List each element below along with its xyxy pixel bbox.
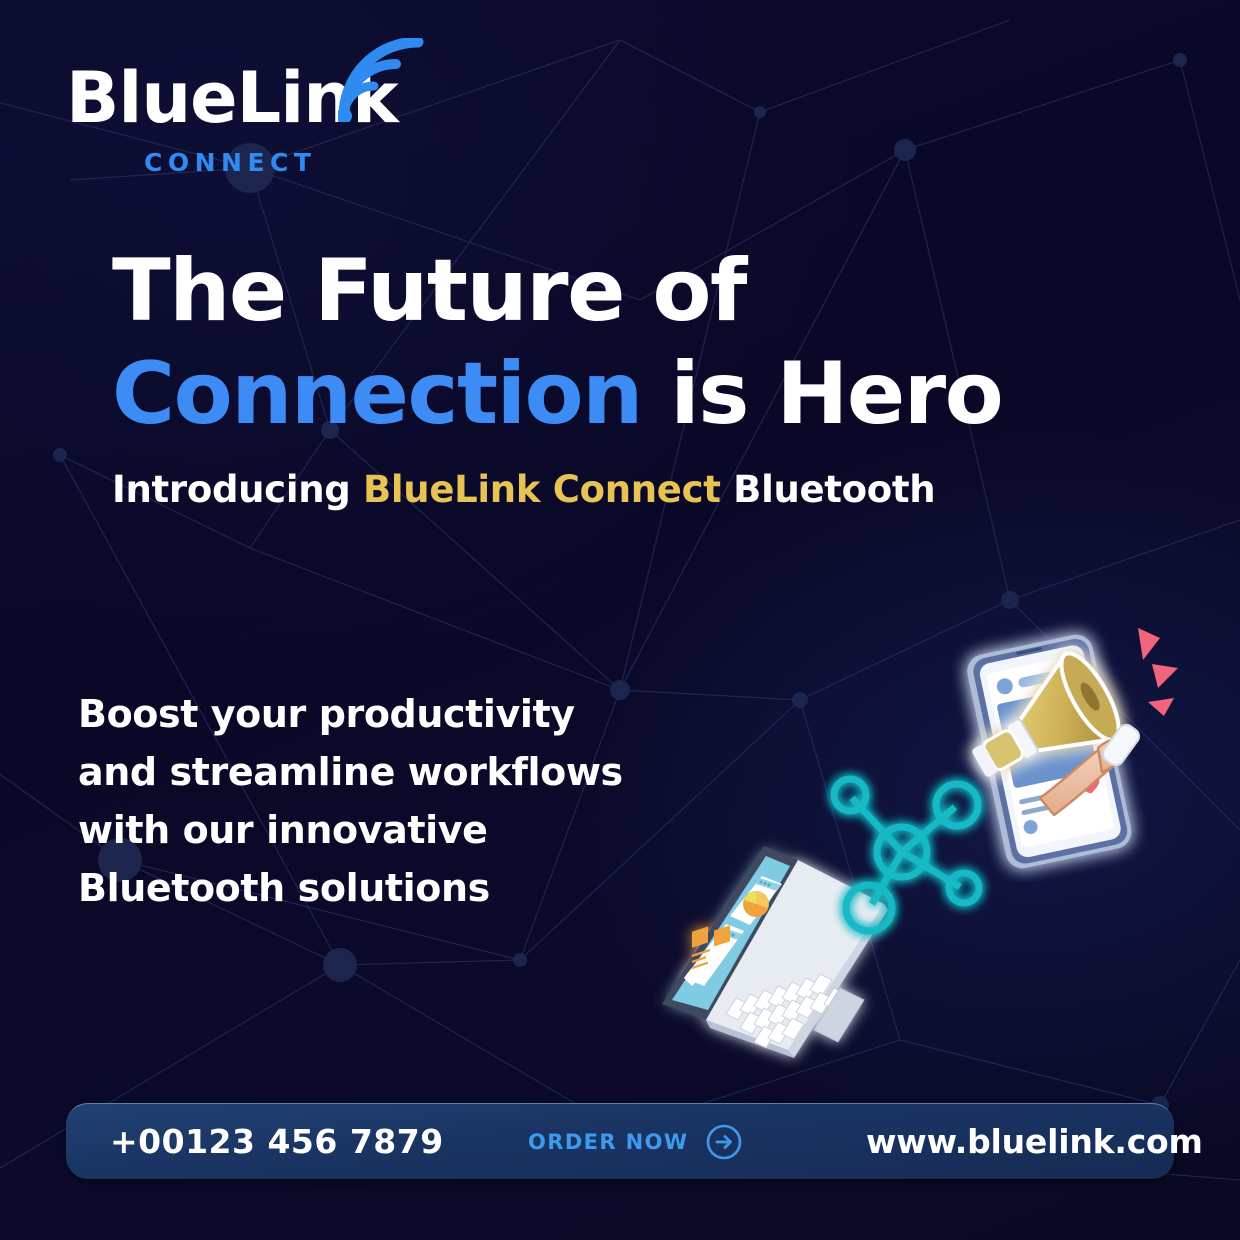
headline-line-2-rest: is Hero — [642, 344, 1002, 444]
headline-block: The Future of Connection is Hero Introdu… — [112, 240, 1072, 511]
wifi-signal-icon — [338, 38, 428, 122]
arrow-right-circle-icon[interactable] — [705, 1123, 743, 1161]
footer-contact-bar: +00123 456 7879 ORDER NOW www.bluelink.c… — [66, 1103, 1174, 1179]
body-copy-line: with our innovative — [78, 801, 623, 859]
order-now-label: ORDER NOW — [528, 1130, 688, 1154]
subheadline-suffix: Bluetooth — [721, 468, 936, 511]
body-copy-line: Bluetooth solutions — [78, 859, 623, 917]
sound-burst — [1138, 628, 1178, 716]
network-hub-icon — [812, 762, 997, 942]
headline-line-1: The Future of — [112, 240, 1072, 343]
body-copy-line: Boost your productivity — [78, 685, 623, 743]
headline-accent-word: Connection — [112, 344, 642, 444]
headline-line-2: Connection is Hero — [112, 343, 1072, 446]
body-copy-block: Boost your productivity and streamline w… — [78, 685, 623, 917]
promo-poster: BlueLink CONNECT The Future of Connectio… — [0, 0, 1240, 1240]
body-copy-line: and streamline workflows — [78, 743, 623, 801]
order-now-button[interactable]: ORDER NOW — [528, 1123, 743, 1161]
footer-phone-number[interactable]: +00123 456 7879 — [110, 1122, 444, 1161]
footer-website[interactable]: www.bluelink.com — [866, 1122, 1203, 1161]
subheadline: Introducing BlueLink Connect Bluetooth — [112, 468, 1072, 511]
logo-tagline: CONNECT — [144, 148, 396, 177]
subheadline-accent: BlueLink Connect — [363, 468, 721, 511]
brand-logo: BlueLink CONNECT — [66, 62, 396, 177]
subheadline-prefix: Introducing — [112, 468, 363, 511]
